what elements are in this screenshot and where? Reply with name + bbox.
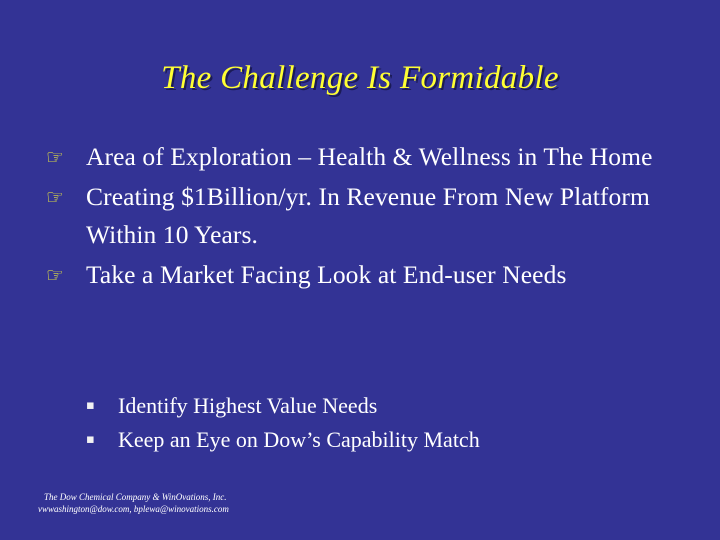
bullet-text: Area of Exploration – Health & Wellness …: [86, 138, 682, 176]
slide-title: The Challenge Is Formidable: [0, 58, 720, 98]
sub-bullet-text: Keep an Eye on Dow’s Capability Match: [118, 427, 480, 452]
slide-footer: The Dow Chemical Company & WinOvations, …: [38, 491, 458, 515]
pointing-hand-bullet-icon: ☞: [46, 256, 76, 294]
footer-emails: vwwashington@dow.com, bplewa@winovations…: [38, 503, 458, 515]
bullet-text: Creating $1Billion/yr. In Revenue From N…: [86, 178, 682, 254]
bullet-item: ☞ Take a Market Facing Look at End-user …: [42, 256, 682, 294]
sub-bullet-item: ▪ Keep an Eye on Dow’s Capability Match: [84, 423, 664, 457]
sub-bullet-list: ▪ Identify Highest Value Needs ▪ Keep an…: [84, 389, 664, 457]
bullet-item: ☞ Area of Exploration – Health & Wellnes…: [42, 138, 682, 176]
bullet-text: Take a Market Facing Look at End-user Ne…: [86, 256, 682, 294]
sub-bullet-text: Identify Highest Value Needs: [118, 393, 377, 418]
bullet-list: ☞ Area of Exploration – Health & Wellnes…: [42, 138, 682, 296]
pointing-hand-bullet-icon: ☞: [46, 138, 76, 176]
presentation-slide: The Challenge Is Formidable ☞ Area of Ex…: [0, 0, 720, 540]
square-bullet-icon: ▪: [86, 423, 106, 457]
sub-bullet-item: ▪ Identify Highest Value Needs: [84, 389, 664, 423]
square-bullet-icon: ▪: [86, 389, 106, 423]
footer-organization: The Dow Chemical Company & WinOvations, …: [38, 491, 458, 503]
bullet-item: ☞ Creating $1Billion/yr. In Revenue From…: [42, 178, 682, 254]
pointing-hand-bullet-icon: ☞: [46, 178, 76, 216]
